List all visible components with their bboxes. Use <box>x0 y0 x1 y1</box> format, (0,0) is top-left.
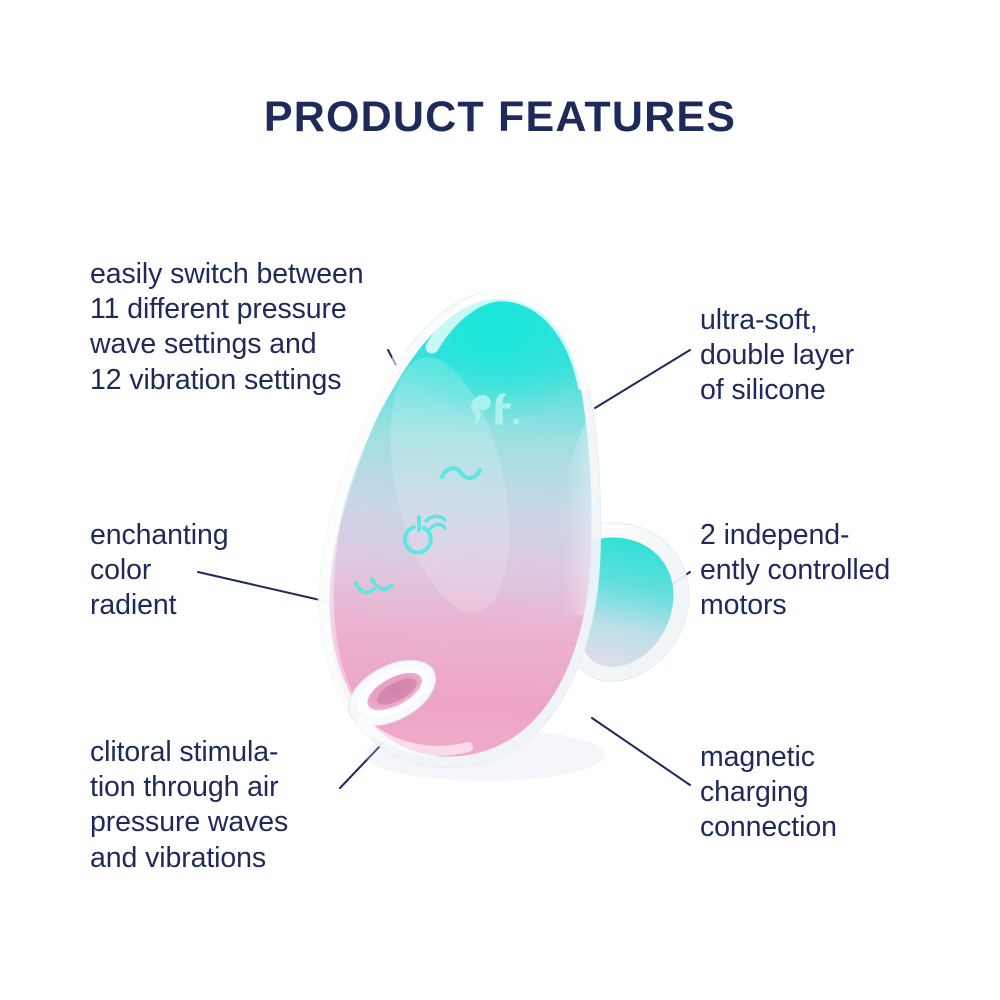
callout-charging: magnetic charging connection <box>700 740 950 846</box>
callout-gradient: enchanting color radient <box>90 518 350 624</box>
callout-silicone: ultra-soft, double layer of silicone <box>700 303 960 409</box>
product-features-infographic: PRODUCT FEATURES <box>0 0 1000 1000</box>
callout-motors: 2 independ- ently controlled motors <box>700 518 975 624</box>
page-title: PRODUCT FEATURES <box>0 93 1000 142</box>
callout-settings: easily switch between 11 different press… <box>90 257 420 398</box>
callout-clitoral: clitoral stimula- tion through air press… <box>90 735 390 876</box>
